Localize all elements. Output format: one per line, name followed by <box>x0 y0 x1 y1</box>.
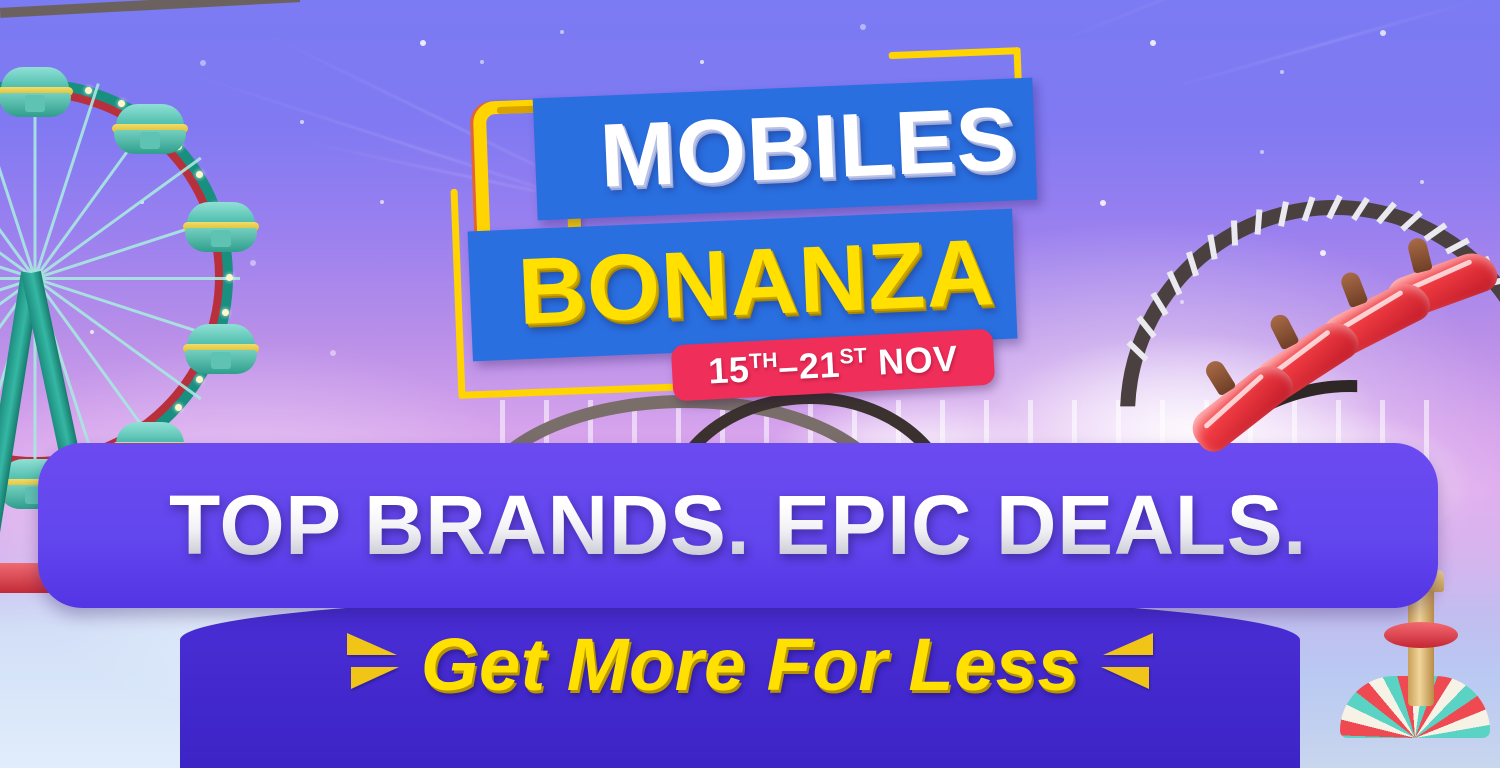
chevron-right-decoration-icon <box>1101 627 1153 703</box>
ferris-spoke <box>35 277 240 280</box>
tagline-text: Get More For Less <box>421 622 1079 707</box>
date-start: 15 <box>707 348 750 391</box>
title-line-1: MOBILES <box>598 88 1019 208</box>
headline-text: TOP BRANDS. EPIC DEALS. <box>38 443 1438 608</box>
date-month: NOV <box>877 337 959 382</box>
headline-banner: TOP BRANDS. EPIC DEALS. <box>38 443 1438 608</box>
ferris-gondola <box>112 104 188 160</box>
sparkle <box>380 200 384 204</box>
light-beam <box>1160 0 1487 92</box>
frame-left-edge <box>450 189 465 399</box>
ferris-gondola <box>0 67 73 123</box>
tagline-row: Get More For Less <box>0 612 1500 717</box>
sparkle <box>420 40 426 46</box>
ferris-bulb <box>85 87 92 94</box>
promo-banner: MOBILES BONANZA 15TH–21ST NOV TOP BRANDS… <box>0 0 1500 768</box>
gondola-seat <box>211 230 231 247</box>
sparkle <box>1380 30 1386 36</box>
sparkle <box>300 120 304 124</box>
gondola-seat <box>25 95 45 112</box>
sparkle <box>1150 40 1156 46</box>
title-line-2: BONANZA <box>516 218 997 346</box>
date-start-ordinal: TH <box>748 349 778 373</box>
sale-date-text: 15TH–21ST NOV <box>707 337 958 392</box>
sparkle <box>330 350 336 356</box>
sparkle <box>860 24 866 30</box>
date-separator: – <box>777 346 800 388</box>
sparkle <box>250 260 256 266</box>
date-end-ordinal: ST <box>839 344 868 368</box>
frame-top-edge <box>889 47 1021 59</box>
gondola-seat <box>140 132 160 149</box>
gondola-seat <box>211 352 231 369</box>
chevron-left-decoration-icon <box>347 627 399 703</box>
sparkle <box>560 30 564 34</box>
background-coaster-loops <box>0 0 1500 10</box>
ferris-bulb <box>175 404 182 411</box>
sparkle <box>1420 180 1424 184</box>
date-end: 21 <box>798 344 841 387</box>
ferris-gondola <box>183 324 259 380</box>
coaster-rail-flat <box>0 0 300 18</box>
coaster-tie <box>1231 220 1238 245</box>
sparkle <box>1100 200 1106 206</box>
ferris-bulb <box>226 274 233 281</box>
ferris-gondola <box>183 202 259 258</box>
sparkle <box>480 60 484 64</box>
sparkle <box>1280 70 1284 74</box>
sparkle <box>1260 150 1264 154</box>
